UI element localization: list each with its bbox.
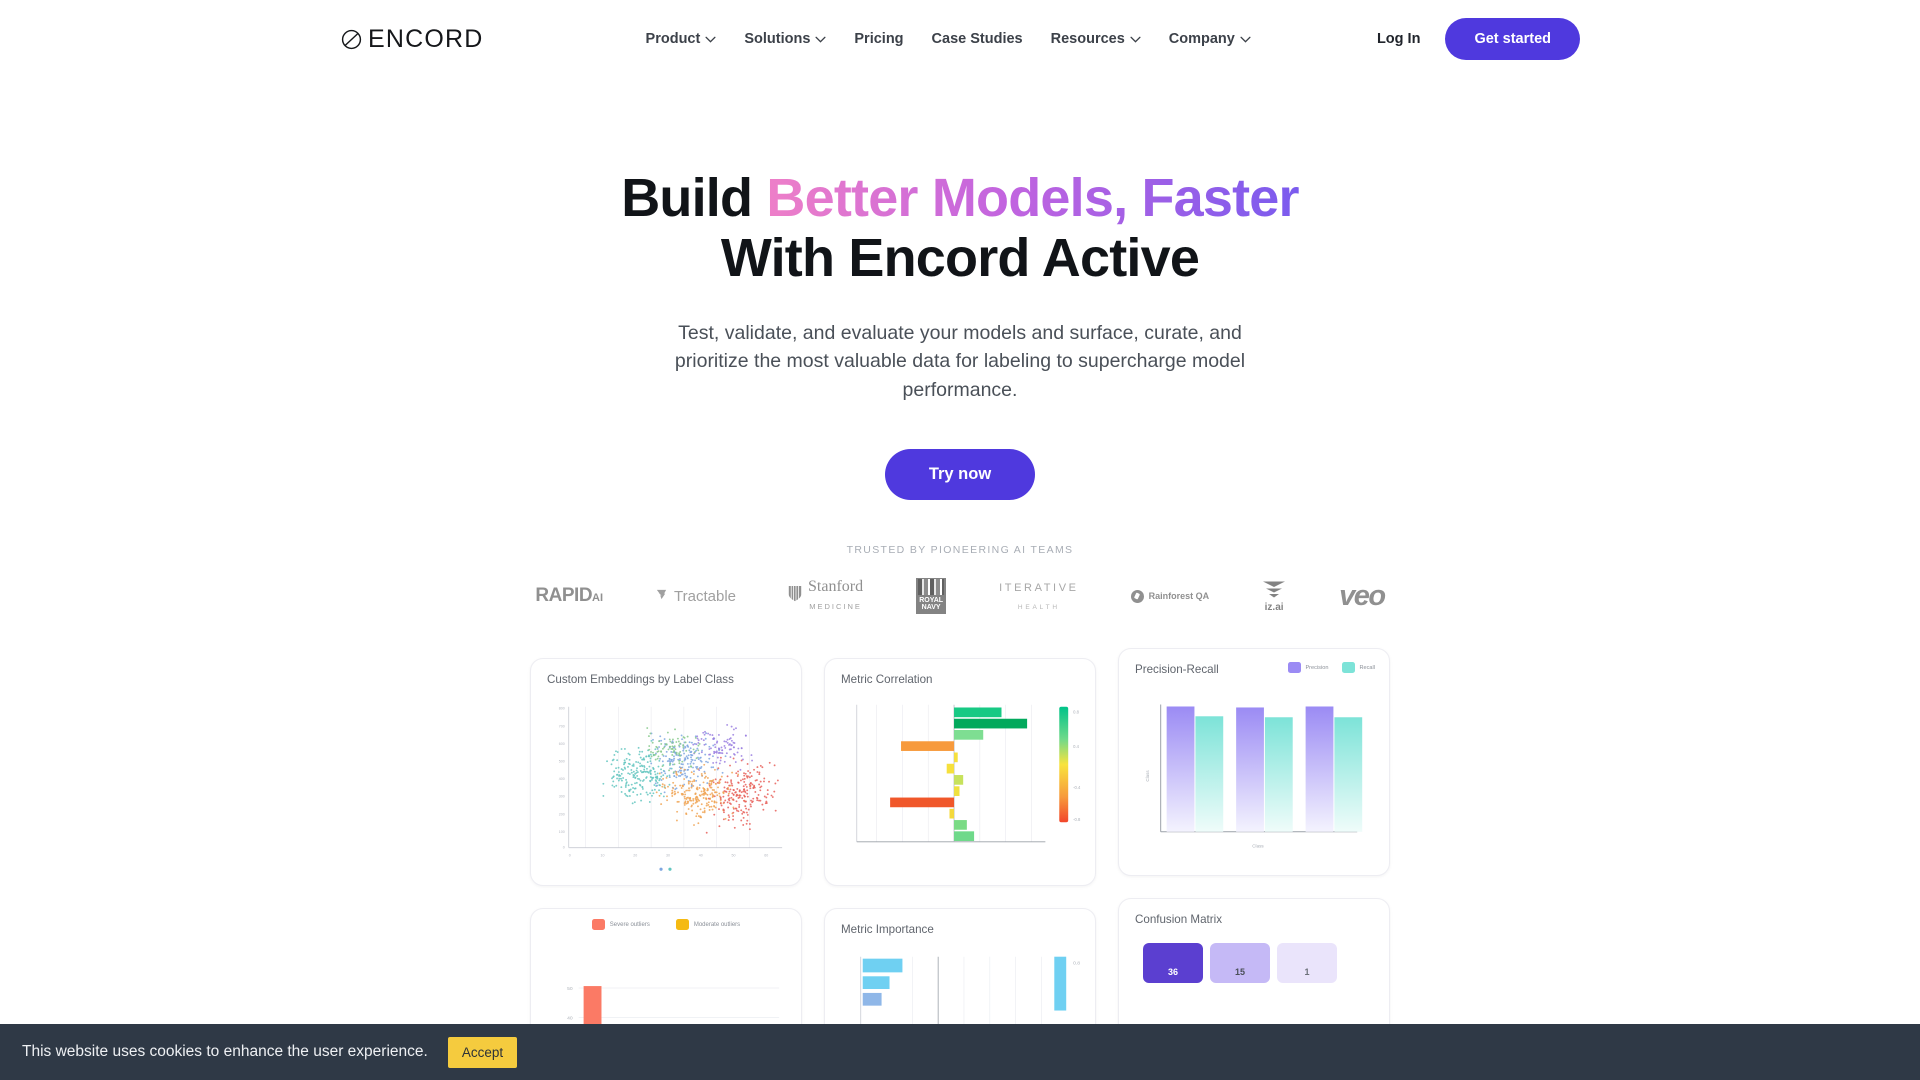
svg-text:700: 700 (559, 725, 565, 729)
svg-text:200: 200 (559, 813, 565, 817)
svg-text:20: 20 (633, 854, 637, 858)
title-part1: Build (621, 168, 766, 228)
logo-text: iz.ai (1265, 602, 1284, 613)
card-title: Metric Correlation (841, 673, 1079, 686)
legend-label: Severe outliers (610, 922, 650, 928)
legend-item-precision: Precision (1288, 662, 1328, 673)
svg-text:0.4: 0.4 (1073, 744, 1079, 749)
chart-card-grid: Custom Embeddings by Label Class 8007006… (525, 658, 1395, 1080)
card-title: Custom Embeddings by Label Class (547, 673, 785, 686)
izai-chevrons-icon (1261, 579, 1287, 604)
nav-item-pricing[interactable]: Pricing (854, 31, 903, 47)
confusion-matrix-grid: 36 15 1 (1143, 943, 1337, 983)
svg-text:400: 400 (559, 777, 565, 781)
svg-text:60: 60 (764, 854, 768, 858)
cookie-consent-banner: This website uses cookies to enhance the… (0, 1024, 1920, 1080)
logo-text: ROYAL (919, 597, 943, 604)
accept-cookies-button[interactable]: Accept (448, 1037, 517, 1068)
logo-subtext: HEALTH (1018, 604, 1060, 611)
svg-text:Class: Class (1145, 770, 1150, 782)
legend-item-moderate-outliers: Moderate outliers (676, 919, 740, 930)
title-line2: With Encord Active (721, 228, 1199, 288)
metric-correlation-chart: 0.80.4 -0.4-0.8 (825, 693, 1095, 879)
matrix-cell[interactable]: 1 (1277, 943, 1337, 983)
tractable-logo: Tractable (655, 574, 736, 618)
rainforest-qa-logo: Rainforest QA (1131, 574, 1210, 618)
scatter-plot: 800700600 500400300 2001000 01020 304050… (531, 693, 801, 879)
chevron-down-icon (1130, 36, 1141, 43)
logo-text: Rainforest QA (1149, 591, 1210, 601)
iz-ai-logo: iz.ai (1261, 574, 1287, 618)
login-link[interactable]: Log In (1377, 31, 1421, 47)
cookie-message: This website uses cookies to enhance the… (22, 1043, 428, 1061)
outliers-legend: Severe outliers Moderate outliers (531, 919, 801, 930)
card-custom-embeddings[interactable]: Custom Embeddings by Label Class 8007006… (530, 658, 802, 886)
logo-subtext: NAVY (922, 604, 941, 611)
veo-logo: veo (1339, 574, 1384, 618)
svg-text:0.8: 0.8 (1073, 710, 1079, 715)
logo-text: Stanford (808, 578, 863, 595)
legend-swatch (676, 919, 689, 930)
svg-text:40: 40 (699, 854, 703, 858)
page-title: Build Better Models, Faster With Encord … (0, 168, 1920, 289)
logo-subtext: MEDICINE (809, 602, 862, 611)
hero-section: Build Better Models, Faster With Encord … (0, 78, 1920, 618)
chevron-down-icon (705, 36, 716, 43)
try-now-button[interactable]: Try now (885, 449, 1035, 500)
nav-item-company[interactable]: Company (1169, 31, 1251, 47)
legend-swatch (592, 919, 605, 930)
logo-subtext: AI (592, 592, 603, 604)
navy-crest-icon (918, 579, 944, 595)
nav-label: Resources (1051, 31, 1125, 47)
logo-text: RAPID (535, 585, 592, 606)
tractable-mark-icon (655, 588, 668, 605)
matrix-cell[interactable]: 36 (1143, 943, 1203, 983)
nav-actions: Log In Get started (1377, 18, 1580, 60)
svg-text:300: 300 (559, 795, 565, 799)
legend-label: Moderate outliers (694, 922, 740, 928)
svg-text:0: 0 (569, 854, 571, 858)
svg-text:10: 10 (600, 854, 604, 858)
title-gradient: Better Models, Faster (766, 168, 1298, 228)
card-title: Confusion Matrix (1135, 913, 1373, 926)
svg-text:600: 600 (559, 742, 565, 746)
encord-logo[interactable]: ENCORD (340, 25, 484, 54)
nav-links: Product Solutions Pricing Case Studies R… (646, 31, 1251, 47)
card-metric-correlation[interactable]: Metric Correlation (824, 658, 1096, 886)
nav-label: Pricing (854, 31, 903, 47)
get-started-button[interactable]: Get started (1445, 18, 1580, 60)
nav-item-resources[interactable]: Resources (1051, 31, 1141, 47)
legend-swatch (1342, 662, 1355, 673)
logo-text: Tractable (674, 588, 736, 605)
svg-text:-0.4: -0.4 (1073, 785, 1081, 790)
svg-text:800: 800 (559, 707, 565, 711)
nav-item-case-studies[interactable]: Case Studies (932, 31, 1023, 47)
logo-text: ITERATIVE (999, 582, 1078, 594)
nav-item-product[interactable]: Product (646, 31, 717, 47)
top-navigation-bar: ENCORD Product Solutions Pricing Case St… (0, 0, 1920, 78)
trusted-by-label: TRUSTED BY PIONEERING AI TEAMS (0, 544, 1920, 556)
nav-label: Company (1169, 31, 1235, 47)
precision-recall-chart: Class Class (1119, 683, 1389, 869)
card-precision-recall[interactable]: Precision-Recall Precision Recall (1118, 648, 1390, 876)
logo-text: veo (1339, 580, 1384, 613)
iterative-health-logo: ITERATIVE HEALTH (999, 574, 1078, 618)
royal-navy-logo: ROYAL NAVY (915, 574, 947, 618)
svg-text:Class: Class (1252, 844, 1264, 849)
annotation-value: 0.8 (1073, 961, 1080, 967)
y-tick-40: 40 (567, 1016, 573, 1022)
encord-monogram-icon (340, 28, 363, 51)
legend-item-recall: Recall (1342, 662, 1375, 673)
nav-label: Case Studies (932, 31, 1023, 47)
svg-text:50: 50 (732, 854, 736, 858)
nav-label: Product (646, 31, 701, 47)
legend-item-severe-outliers: Severe outliers (592, 919, 650, 930)
svg-text:-0.8: -0.8 (1073, 818, 1081, 823)
chevron-down-icon (1240, 36, 1251, 43)
chevron-down-icon (815, 36, 826, 43)
y-tick-50: 50 (567, 986, 573, 992)
legend-swatch (1288, 662, 1301, 673)
precision-recall-legend: Precision Recall (1288, 662, 1375, 673)
rainforest-mark-icon (1131, 590, 1144, 603)
rapid-ai-logo: RAPIDAI (535, 574, 603, 618)
stanford-shield-icon (788, 585, 802, 607)
hero-subtitle: Test, validate, and evaluate your models… (640, 319, 1280, 404)
nav-label: Solutions (744, 31, 810, 47)
legend-label: Recall (1359, 665, 1375, 671)
legend-label: Precision (1305, 665, 1328, 671)
matrix-cell[interactable]: 15 (1210, 943, 1270, 983)
card-title: Metric Importance (841, 923, 1079, 936)
svg-text:100: 100 (559, 830, 565, 834)
customer-logo-strip: RAPIDAI Tractable Stanford MEDICINE ROYA… (0, 574, 1920, 618)
svg-text:500: 500 (559, 760, 565, 764)
svg-text:30: 30 (666, 854, 670, 858)
stanford-medicine-logo: Stanford MEDICINE (788, 574, 863, 618)
logo-wordmark: ENCORD (368, 25, 484, 54)
svg-text:0: 0 (563, 846, 565, 850)
nav-item-solutions[interactable]: Solutions (744, 31, 826, 47)
